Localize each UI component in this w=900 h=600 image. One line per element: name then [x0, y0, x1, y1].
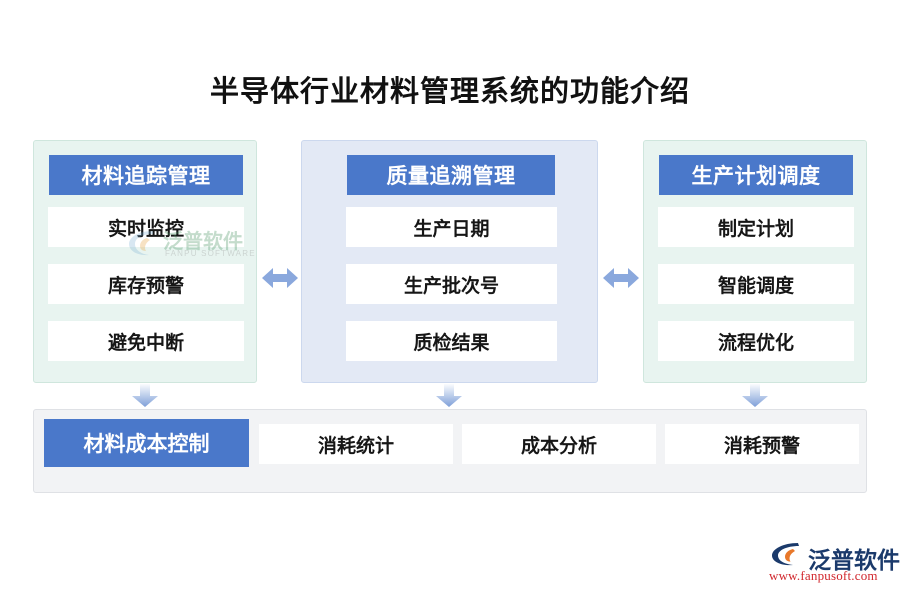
column-item-avoid-interruption[interactable]: 避免中断: [48, 321, 244, 361]
logo-url: www.fanpusoft.com: [769, 568, 878, 584]
infographic-canvas: 半导体行业材料管理系统的功能介绍 材料追踪管理 实时监控 库存预警 避免中断 质…: [0, 0, 900, 600]
column-item-production-batch-number[interactable]: 生产批次号: [346, 264, 557, 304]
bottom-item-cost-analysis[interactable]: 成本分析: [462, 424, 656, 464]
column-item-process-optimization[interactable]: 流程优化: [658, 321, 854, 361]
bottom-item-consumption-statistics[interactable]: 消耗统计: [259, 424, 453, 464]
column-production-scheduling: 生产计划调度 制定计划 智能调度 流程优化: [643, 140, 867, 383]
column-material-tracking: 材料追踪管理 实时监控 库存预警 避免中断: [33, 140, 257, 383]
brand-logo: 泛普软件 www.fanpusoft.com: [766, 540, 891, 586]
column-quality-traceability: 质量追溯管理 生产日期 生产批次号 质检结果: [301, 140, 598, 383]
column-item-realtime-monitoring[interactable]: 实时监控: [48, 207, 244, 247]
bottom-header-material-cost-control: 材料成本控制: [44, 419, 249, 467]
column-item-make-plan[interactable]: 制定计划: [658, 207, 854, 247]
bottom-item-consumption-alert[interactable]: 消耗预警: [665, 424, 859, 464]
arrow-down-icon: [435, 384, 463, 408]
column-header-material-tracking: 材料追踪管理: [49, 155, 243, 195]
page-title: 半导体行业材料管理系统的功能介绍: [0, 74, 900, 110]
column-item-production-date[interactable]: 生产日期: [346, 207, 557, 247]
arrow-down-icon: [741, 384, 769, 408]
arrow-down-icon: [131, 384, 159, 408]
column-item-smart-scheduling[interactable]: 智能调度: [658, 264, 854, 304]
bottom-panel-material-cost-control: 材料成本控制 消耗统计 成本分析 消耗预警: [33, 409, 867, 493]
fanpu-logo-icon: [768, 541, 804, 567]
column-header-quality-traceability: 质量追溯管理: [347, 155, 555, 195]
double-arrow-horizontal-icon: [603, 265, 639, 291]
column-header-production-scheduling: 生产计划调度: [659, 155, 853, 195]
double-arrow-horizontal-icon: [262, 265, 298, 291]
column-item-quality-inspection-result[interactable]: 质检结果: [346, 321, 557, 361]
column-item-inventory-alert[interactable]: 库存预警: [48, 264, 244, 304]
